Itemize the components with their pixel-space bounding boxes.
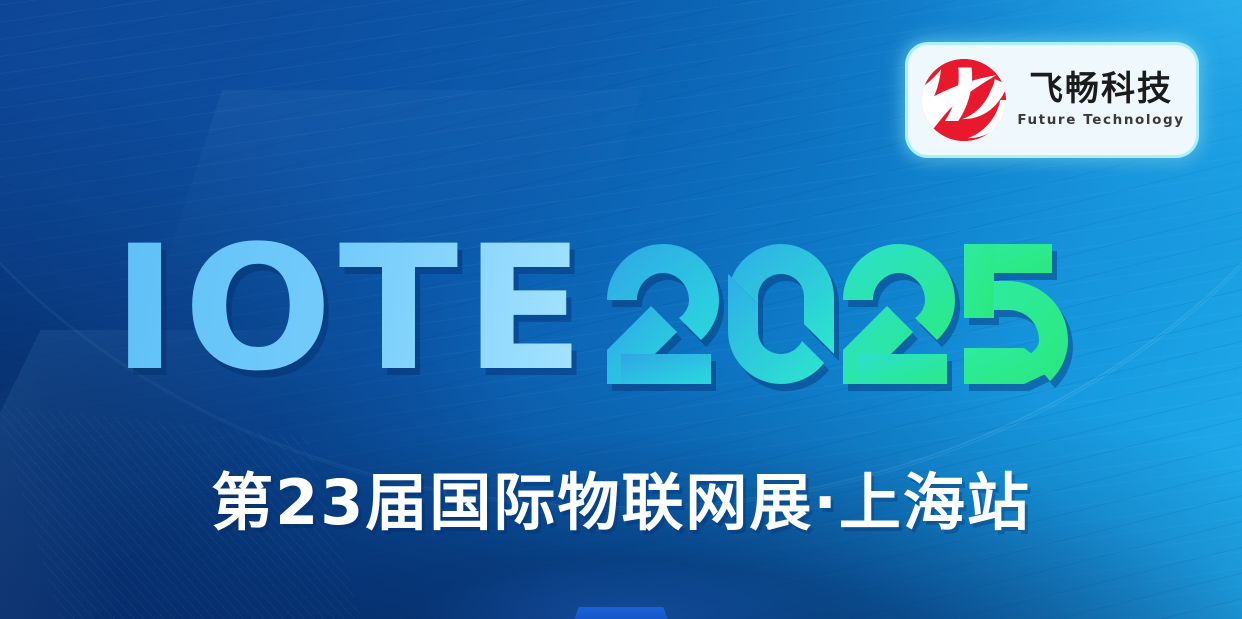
headline: IOTE — [112, 238, 1068, 379]
feichang-logo-icon — [916, 56, 1012, 144]
year-digit-2-second — [843, 244, 955, 384]
headline-year-2025 — [607, 244, 1068, 384]
company-logo-card[interactable]: 飞畅科技 Future Technology — [908, 45, 1196, 155]
subtitle: 第23届国际物联网展·上海站 — [0, 452, 1242, 542]
bottom-center-tab — [573, 607, 669, 619]
year-digit-5 — [964, 244, 1068, 384]
year-digit-2-first — [607, 244, 719, 384]
company-logo-text: 飞畅科技 Future Technology — [1020, 72, 1182, 129]
company-name-cn: 飞畅科技 — [1029, 72, 1173, 108]
company-name-en: Future Technology — [1017, 112, 1184, 128]
iote-2025-banner: 飞畅科技 Future Technology IOTE — [0, 0, 1242, 619]
headline-iote: IOTE — [112, 238, 590, 379]
year-digit-0 — [728, 244, 834, 384]
